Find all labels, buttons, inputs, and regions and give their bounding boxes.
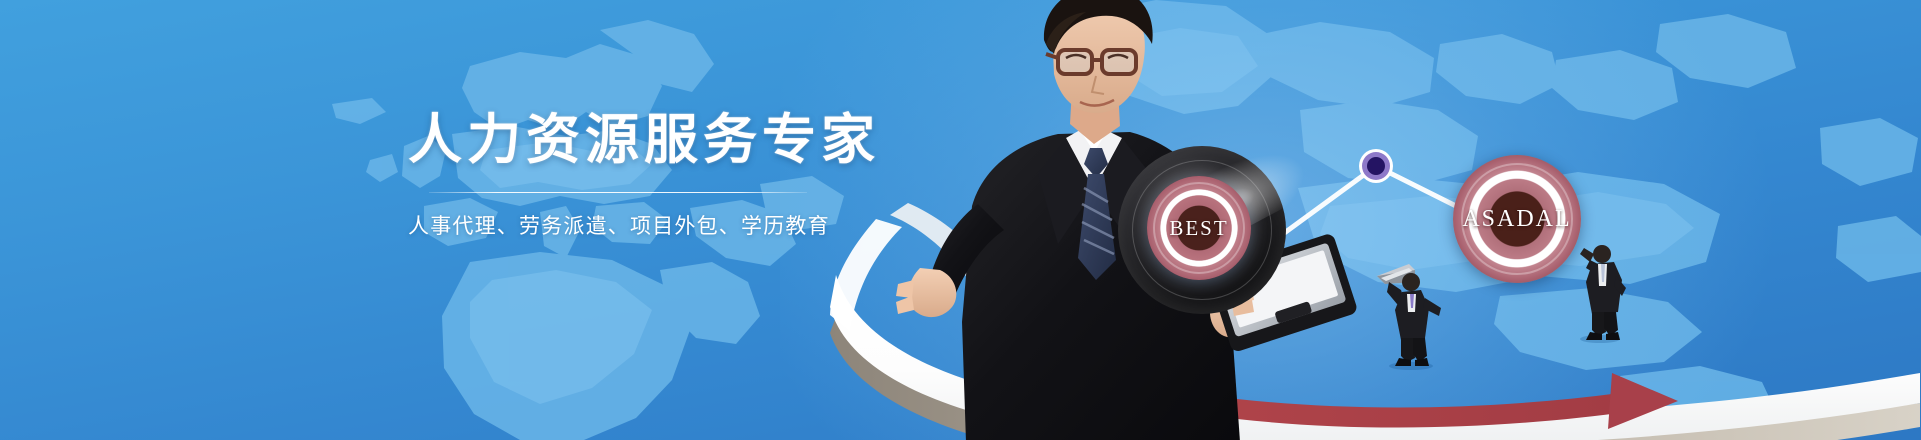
badge-best[interactable]: BEST [1147, 176, 1251, 280]
badge-best-label: BEST [1169, 216, 1228, 241]
page-title: 人力资源服务专家 [408, 112, 828, 169]
divider [429, 192, 807, 193]
hero-banner: BEST ASADAL 人力资源服务专家 人事代理、劳务派遣、项目外包、学历教育 [0, 0, 1921, 440]
banner-copy: 人力资源服务专家 人事代理、劳务派遣、项目外包、学历教育 [408, 112, 828, 240]
small-businessman-looking-ahead [1570, 232, 1632, 344]
badge-asadal[interactable]: ASADAL [1453, 155, 1581, 283]
banner-subtitle: 人事代理、劳务派遣、项目外包、学历教育 [408, 210, 828, 240]
badge-asadal-label: ASADAL [1462, 206, 1571, 233]
